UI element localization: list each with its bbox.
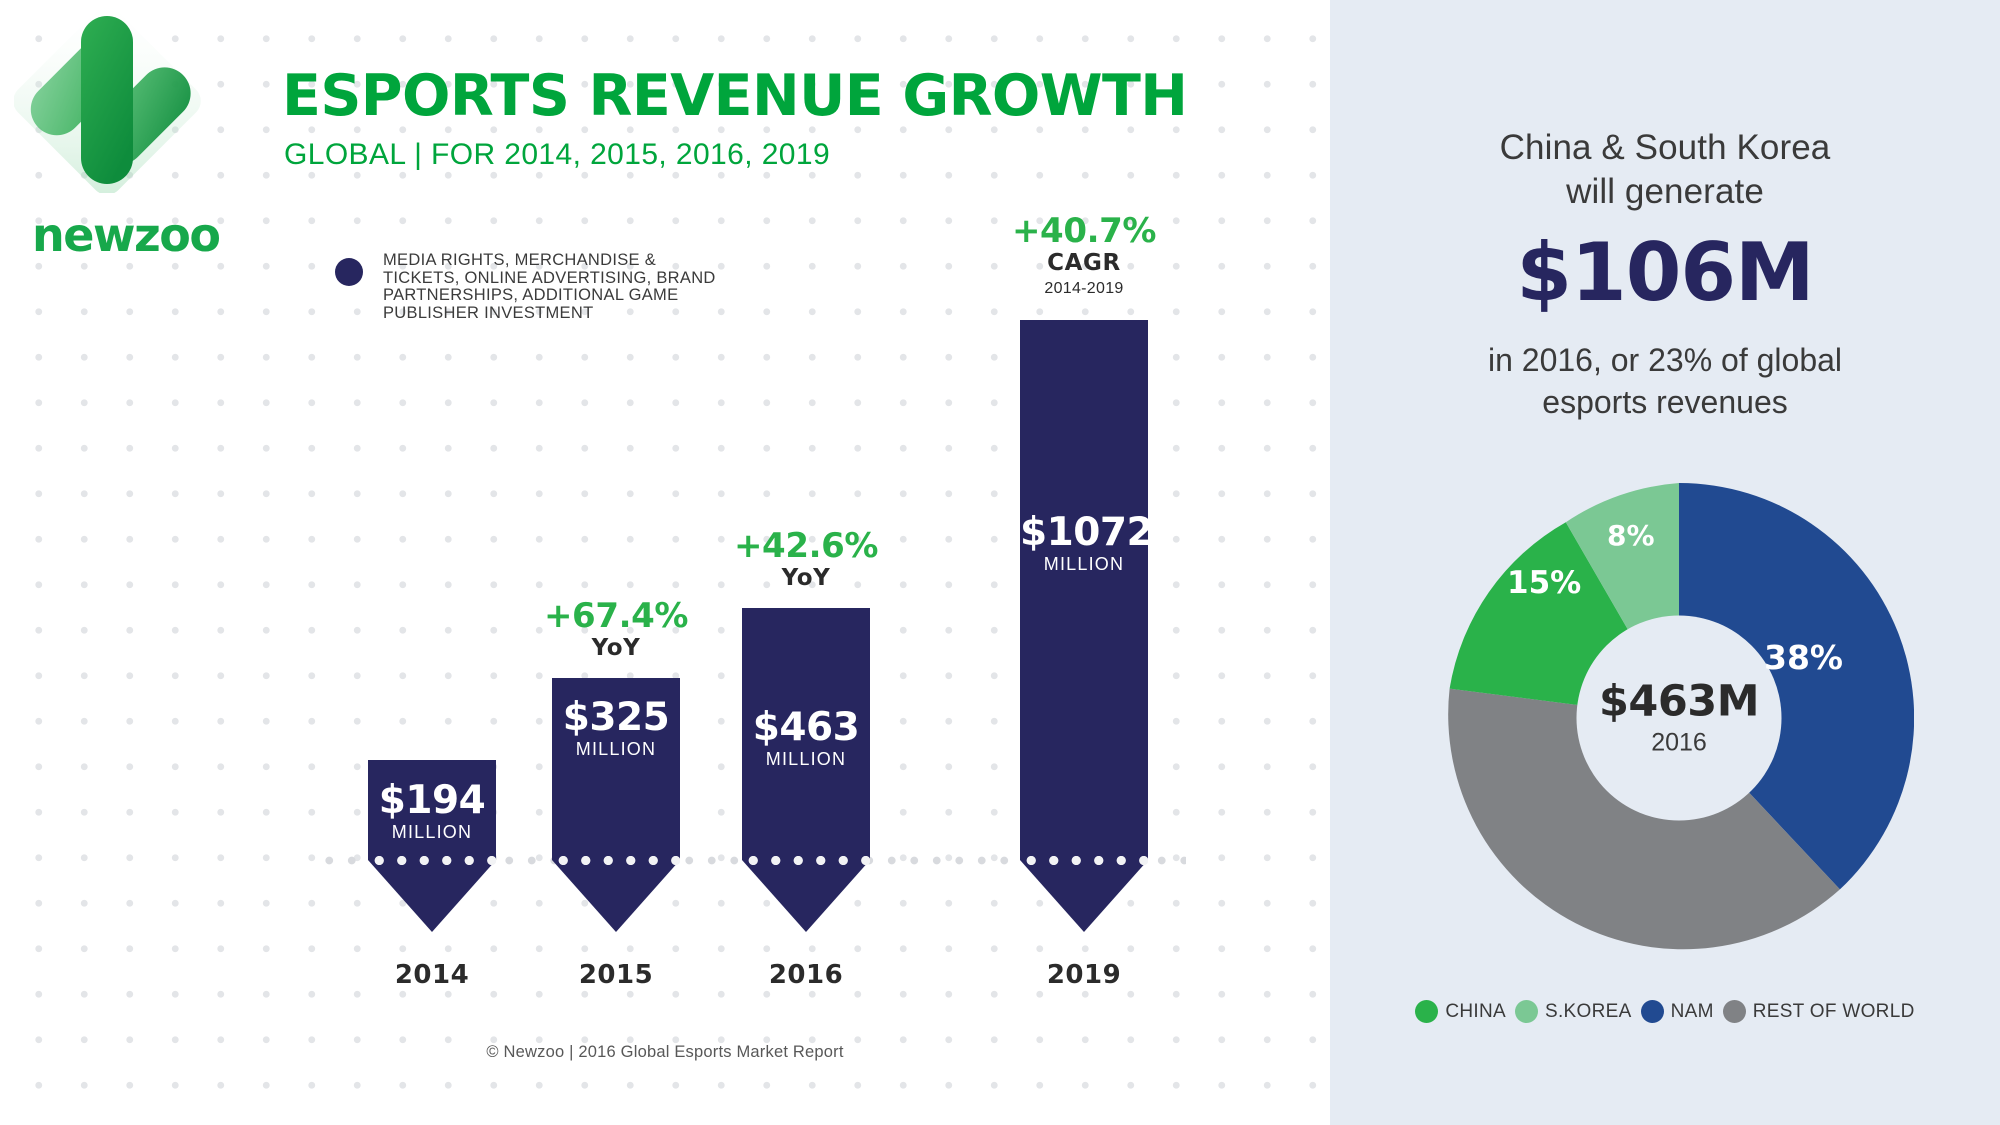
legend-label-china: CHINA xyxy=(1445,1001,1506,1023)
growth-annotation-2019: +40.7% CAGR 2014-2019 xyxy=(1010,213,1158,299)
panel-sub-line2: esports revenues xyxy=(1330,382,2000,424)
bar-value-label: $325 xyxy=(552,695,680,740)
legend-swatch-rest-of-world-icon xyxy=(1723,1000,1746,1023)
panel-lead-line1: China & South Korea xyxy=(1330,126,2000,170)
legend-item-skorea[interactable]: S.KOREA xyxy=(1515,1000,1632,1023)
bar-value-label: $1072 xyxy=(1020,510,1148,555)
legend-label-nam: NAM xyxy=(1671,1001,1714,1023)
legend-label-rest-of-world: REST OF WORLD xyxy=(1753,1001,1915,1023)
bar-pointer-tip xyxy=(1020,860,1148,932)
panel-big-figure: $106M xyxy=(1330,233,2000,313)
legend-swatch-nam-icon xyxy=(1641,1000,1664,1023)
legend-item-china[interactable]: CHINA xyxy=(1415,1000,1506,1023)
bar-2014[interactable]: $194 MILLION 2014 xyxy=(368,760,496,860)
bar-body xyxy=(1020,320,1148,860)
panel-lead-text: China & South Korea will generate xyxy=(1330,126,2000,214)
growth-percent: +40.7% xyxy=(1010,213,1158,249)
panel-sub-line1: in 2016, or 23% of global xyxy=(1330,340,2000,382)
infographic-canvas: newzoo ESPORTS REVENUE GROWTH GLOBAL | F… xyxy=(0,0,2000,1125)
bar-2015[interactable]: $325 MILLION 2015 xyxy=(552,678,680,860)
bar-2019[interactable]: $1072 MILLION 2019 xyxy=(1020,320,1148,860)
growth-label: CAGR xyxy=(1010,249,1158,279)
donut-center-year: 2016 xyxy=(1651,731,1707,756)
growth-percent: +67.4% xyxy=(542,598,690,634)
donut-center: $463M 2016 xyxy=(1577,616,1782,821)
legend-swatch-skorea-icon xyxy=(1515,1000,1538,1023)
donut-label-china: 15% xyxy=(1507,565,1581,601)
legend-label-skorea: S.KOREA xyxy=(1545,1001,1632,1023)
source-credit: © Newzoo | 2016 Global Esports Market Re… xyxy=(0,1043,1330,1062)
bar-year-label: 2015 xyxy=(552,960,680,990)
growth-label: YoY xyxy=(542,634,690,664)
bar-unit-label: MILLION xyxy=(742,749,870,770)
growth-label: YoY xyxy=(732,564,880,594)
panel-lead-line2: will generate xyxy=(1330,170,2000,214)
bar-value-label: $463 xyxy=(742,705,870,750)
donut-label-skorea: 8% xyxy=(1607,519,1655,552)
bar-unit-label: MILLION xyxy=(552,739,680,760)
bar-year-label: 2016 xyxy=(742,960,870,990)
legend-item-rest-of-world[interactable]: REST OF WORLD xyxy=(1723,1000,1915,1023)
growth-annotation-2015: +67.4% YoY xyxy=(542,598,690,664)
legend-swatch-china-icon xyxy=(1415,1000,1438,1023)
panel-sub-text: in 2016, or 23% of global esports revenu… xyxy=(1330,340,2000,423)
bar-year-label: 2014 xyxy=(368,960,496,990)
bar-unit-label: MILLION xyxy=(368,822,496,843)
bar-pointer-tip xyxy=(368,860,496,932)
donut-label-nam: 38% xyxy=(1764,638,1843,677)
regional-revenue-donut-chart[interactable]: $463M 2016 38% 15% 8% xyxy=(1444,483,1914,953)
growth-percent: +42.6% xyxy=(732,528,880,564)
bar-unit-label: MILLION xyxy=(1020,554,1148,575)
bar-2016[interactable]: $463 MILLION 2016 xyxy=(742,608,870,860)
bar-pointer-tip xyxy=(552,860,680,932)
donut-legend: CHINA S.KOREA NAM REST OF WORLD xyxy=(1330,1000,2000,1023)
bar-chart: $194 MILLION 2014 $325 MILLION 2015 +67.… xyxy=(0,0,1330,1125)
highlight-panel: China & South Korea will generate $106M … xyxy=(1330,0,2000,1125)
bar-year-label: 2019 xyxy=(1020,960,1148,990)
growth-sublabel: 2014-2019 xyxy=(1010,279,1158,299)
bar-pointer-tip xyxy=(742,860,870,932)
legend-item-nam[interactable]: NAM xyxy=(1641,1000,1714,1023)
bar-value-label: $194 xyxy=(368,778,496,823)
donut-center-value: $463M xyxy=(1599,681,1759,724)
growth-annotation-2016: +42.6% YoY xyxy=(732,528,880,594)
